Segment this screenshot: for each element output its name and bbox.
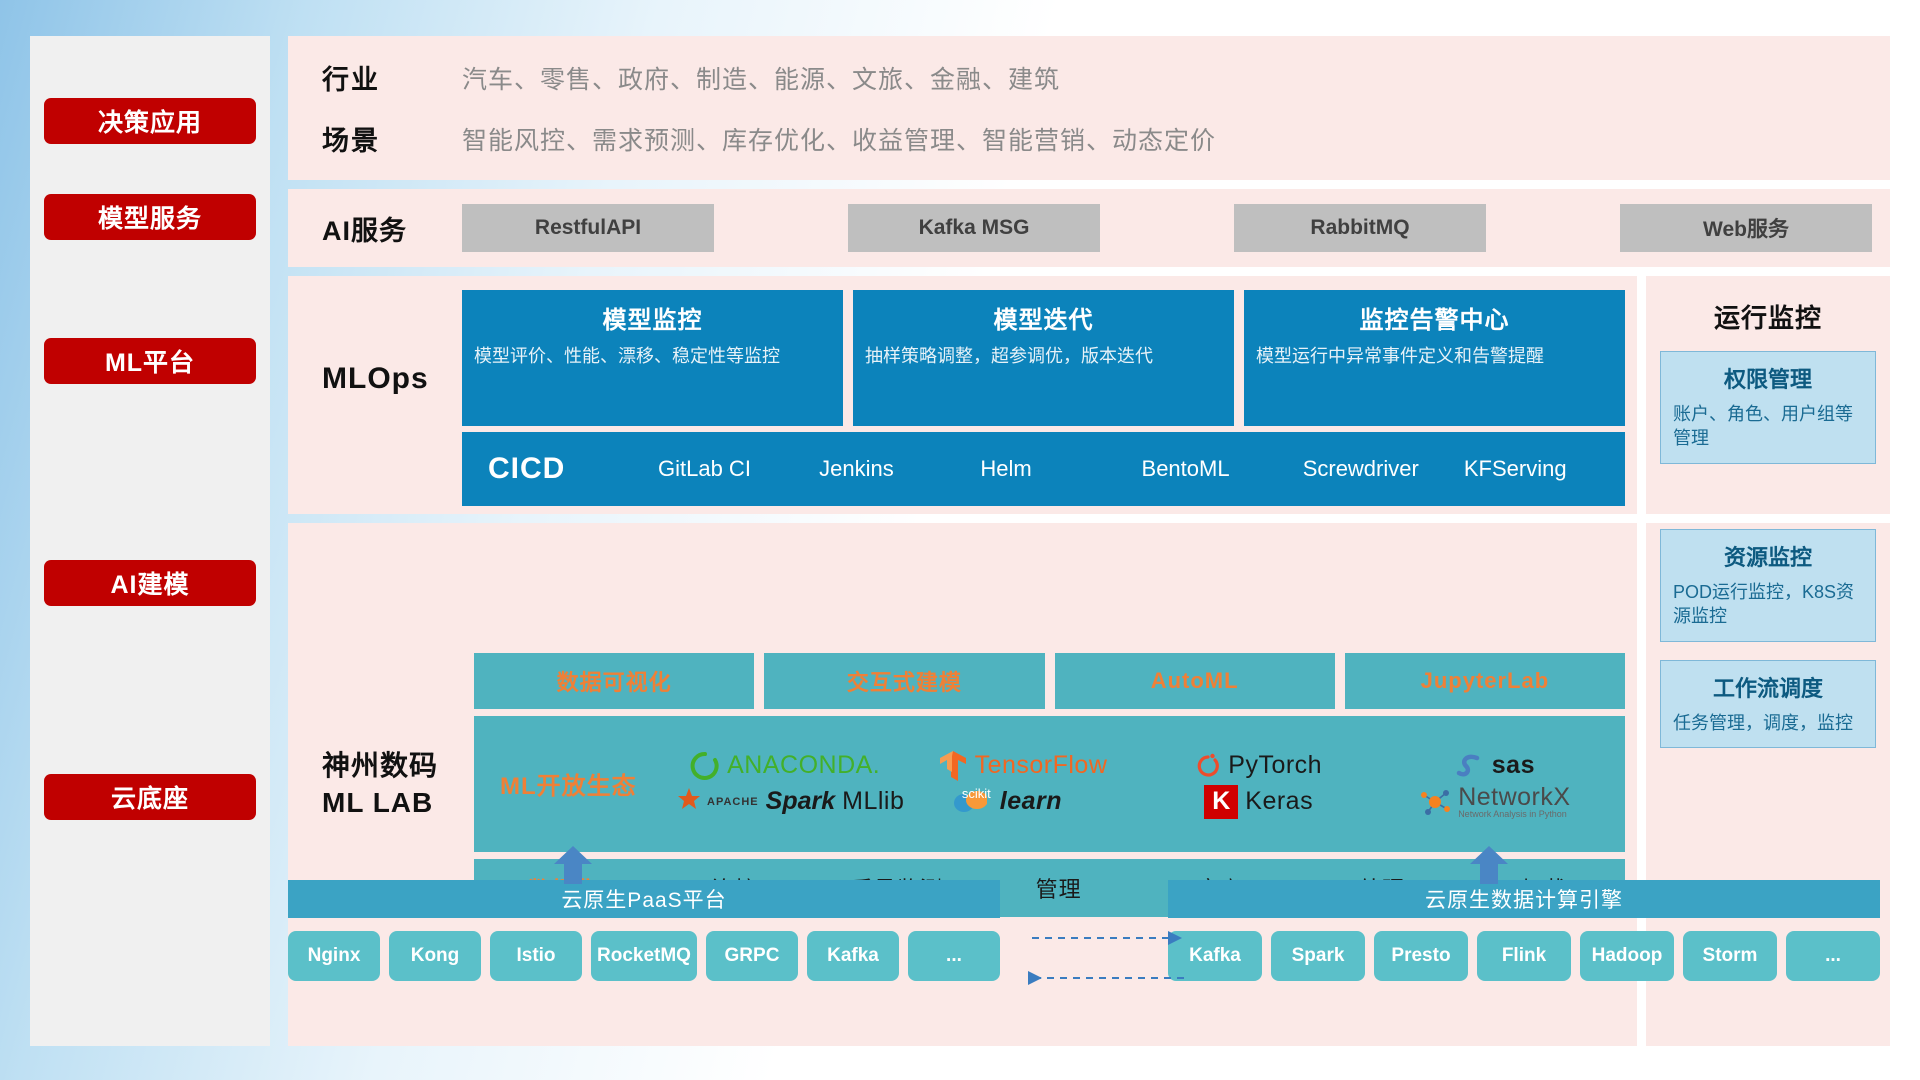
- anaconda-icon: [690, 751, 720, 781]
- cicd-item-gitlab-ci[interactable]: GitLab CI: [658, 455, 819, 483]
- engine-up-arrow: [1468, 846, 1510, 884]
- mlops-card-title: 模型迭代: [865, 300, 1222, 335]
- cicd-item-bentoml[interactable]: BentoML: [1142, 455, 1303, 483]
- spark-icon: [666, 787, 700, 817]
- runtime-monitor-column: 运行监控 权限管理 账户、角色、用户组等管理: [1646, 276, 1890, 514]
- pytorch-wordmark: PyTorch: [1228, 751, 1322, 780]
- engine-chip-more[interactable]: ...: [1786, 931, 1880, 981]
- rc-card-title: 权限管理: [1673, 362, 1863, 394]
- keras-icon: K: [1204, 785, 1238, 819]
- anaconda-wordmark: ANACONDA.: [727, 751, 880, 780]
- tensorflow-wordmark: TensorFlow: [975, 751, 1108, 780]
- layer-rail: 决策应用 模型服务 ML平台 AI建模 云底座: [30, 36, 270, 1046]
- mlops-card-desc: 抽样策略调整，超参调优，版本迭代: [865, 344, 1222, 369]
- runtime-monitor-title: 运行监控: [1660, 298, 1876, 335]
- mllib-wordmark: MLlib: [842, 787, 904, 816]
- scikit-learn-logo: scikit learn: [953, 787, 1092, 817]
- paas-title: 云原生PaaS平台: [288, 880, 1000, 918]
- spark-apache-text: APACHE: [707, 796, 759, 808]
- scenario-label: 场景: [322, 119, 462, 158]
- rc-card-title: 资源监控: [1673, 540, 1863, 572]
- paas-chip-grpc[interactable]: GRPC: [706, 931, 798, 981]
- ai-service-box-restfulapi[interactable]: RestfulAPI: [462, 204, 714, 252]
- anaconda-logo: ANACONDA.: [690, 751, 880, 781]
- mlops-card-title: 模型监控: [474, 300, 831, 335]
- cicd-item-kfserving[interactable]: KFServing: [1464, 455, 1625, 483]
- engine-chip-storm[interactable]: Storm: [1683, 931, 1777, 981]
- scikit-word: scikit: [962, 786, 991, 801]
- cicd-bar: CICD GitLab CI Jenkins Helm BentoML Scre…: [462, 432, 1625, 506]
- scenario-row: 场景 智能风控、需求预测、库存优化、收益管理、智能营销、动态定价: [322, 119, 1216, 158]
- rc-card-resource-monitor[interactable]: 资源监控 POD运行监控，K8S资源监控: [1660, 529, 1876, 642]
- mlops-row: MLOps 模型监控 模型评价、性能、漂移、稳定性等监控 模型迭代 抽样策略调整…: [288, 276, 1890, 514]
- layer-badge-model-service[interactable]: 模型服务: [44, 194, 256, 240]
- cicd-title: CICD: [488, 452, 658, 486]
- scenario-values: 智能风控、需求预测、库存优化、收益管理、智能营销、动态定价: [462, 121, 1216, 157]
- sas-icon: [1455, 751, 1485, 781]
- rc-card-workflow-schedule[interactable]: 工作流调度 任务管理，调度，监控: [1660, 660, 1876, 748]
- networkx-tagline: Network Analysis in Python: [1458, 810, 1570, 819]
- cicd-item-helm[interactable]: Helm: [980, 455, 1141, 483]
- rc-card-desc: POD运行监控，K8S资源监控: [1673, 580, 1863, 629]
- ml-lab-label: 神州数码 ML LAB: [322, 748, 474, 821]
- paas-chip-kafka[interactable]: Kafka: [807, 931, 899, 981]
- networkx-logo: NetworkX Network Analysis in Python: [1419, 785, 1570, 819]
- ai-service-label: AI服务: [322, 209, 462, 248]
- rc-card-title: 工作流调度: [1673, 671, 1863, 703]
- paas-chip-istio[interactable]: Istio: [490, 931, 582, 981]
- layer-badge-cloud-base[interactable]: 云底座: [44, 774, 256, 820]
- ai-service-box-rabbitmq[interactable]: RabbitMQ: [1234, 204, 1486, 252]
- pytorch-icon: [1195, 751, 1221, 781]
- tool-chip-data-visualization[interactable]: 数据可视化: [474, 653, 754, 709]
- ml-lab-label-line2: ML LAB: [322, 785, 474, 821]
- mlops-band: MLOps 模型监控 模型评价、性能、漂移、稳定性等监控 模型迭代 抽样策略调整…: [288, 276, 1637, 514]
- learn-wordmark: learn: [1000, 787, 1062, 816]
- paas-chip-nginx[interactable]: Nginx: [288, 931, 380, 981]
- industry-row: 行业 汽车、零售、政府、制造、能源、文旅、金融、建筑: [322, 58, 1216, 97]
- engine-chip-hadoop[interactable]: Hadoop: [1580, 931, 1674, 981]
- mlops-card-model-monitor[interactable]: 模型监控 模型评价、性能、漂移、稳定性等监控: [462, 290, 843, 426]
- ml-ecosystem-label: ML开放生态: [486, 766, 666, 801]
- industry-label: 行业: [322, 58, 462, 97]
- ai-service-band: AI服务 RestfulAPI Kafka MSG RabbitMQ Web服务: [288, 189, 1890, 267]
- cicd-item-screwdriver[interactable]: Screwdriver: [1303, 455, 1464, 483]
- ai-service-box-kafka-msg[interactable]: Kafka MSG: [848, 204, 1100, 252]
- sas-logo: sas: [1455, 751, 1535, 781]
- networkx-wordmark: NetworkX: [1458, 785, 1570, 810]
- engine-chip-spark[interactable]: Spark: [1271, 931, 1365, 981]
- layer-badge-ai-modeling[interactable]: AI建模: [44, 560, 256, 606]
- spark-wordmark: Spark: [766, 787, 835, 816]
- mlops-card-desc: 模型评价、性能、漂移、稳定性等监控: [474, 344, 831, 369]
- paas-chip-kong[interactable]: Kong: [389, 931, 481, 981]
- rc-card-permission[interactable]: 权限管理 账户、角色、用户组等管理: [1660, 351, 1876, 464]
- tool-chip-automl[interactable]: AutoML: [1055, 653, 1335, 709]
- mlops-card-alert-center[interactable]: 监控告警中心 模型运行中异常事件定义和告警提醒: [1244, 290, 1625, 426]
- mlops-card-title: 监控告警中心: [1256, 300, 1613, 335]
- compute-engine-column: 云原生数据计算引擎 Kafka Spark Presto Flink Hadoo…: [1168, 880, 1880, 1046]
- cicd-item-jenkins[interactable]: Jenkins: [819, 455, 980, 483]
- mlops-card-model-iteration[interactable]: 模型迭代 抽样策略调整，超参调优，版本迭代: [853, 290, 1234, 426]
- industry-values: 汽车、零售、政府、制造、能源、文旅、金融、建筑: [462, 60, 1060, 96]
- ai-service-box-web-service[interactable]: Web服务: [1620, 204, 1872, 252]
- cloud-interconnect-arrows: [1028, 930, 1188, 990]
- engine-chip-presto[interactable]: Presto: [1374, 931, 1468, 981]
- tensorflow-logo: TensorFlow: [938, 749, 1108, 783]
- ml-lab-label-line1: 神州数码: [322, 748, 474, 784]
- spark-mllib-logo: APACHE Spark MLlib: [666, 787, 904, 817]
- tool-chip-interactive-modeling[interactable]: 交互式建模: [764, 653, 1044, 709]
- paas-column: 云原生PaaS平台 Nginx Kong Istio RocketMQ GRPC…: [288, 880, 1000, 1046]
- mlops-label: MLOps: [322, 290, 462, 396]
- paas-chip-rocketmq[interactable]: RocketMQ: [591, 931, 697, 981]
- tool-chip-jupyterlab[interactable]: JupyterLab: [1345, 653, 1625, 709]
- rc-card-desc: 账户、角色、用户组等管理: [1673, 402, 1863, 451]
- keras-wordmark: Keras: [1245, 787, 1313, 816]
- mlops-card-desc: 模型运行中异常事件定义和告警提醒: [1256, 344, 1613, 369]
- networkx-icon: [1419, 787, 1451, 817]
- keras-logo: K Keras: [1204, 785, 1313, 819]
- sas-wordmark: sas: [1492, 751, 1535, 780]
- industry-scenario-band: 行业 汽车、零售、政府、制造、能源、文旅、金融、建筑 场景 智能风控、需求预测、…: [288, 36, 1890, 180]
- rc-card-desc: 任务管理，调度，监控: [1673, 711, 1863, 735]
- paas-up-arrow: [552, 846, 594, 884]
- paas-chip-more[interactable]: ...: [908, 931, 1000, 981]
- tensorflow-icon: [938, 749, 968, 783]
- engine-title: 云原生数据计算引擎: [1168, 880, 1880, 918]
- pytorch-logo: PyTorch: [1195, 751, 1322, 781]
- layer-badge-ml-platform[interactable]: ML平台: [44, 338, 256, 384]
- ml-ecosystem-row: ML开放生态 ANACONDA.: [474, 716, 1625, 852]
- engine-chip-flink[interactable]: Flink: [1477, 931, 1571, 981]
- layer-badge-decision-app[interactable]: 决策应用: [44, 98, 256, 144]
